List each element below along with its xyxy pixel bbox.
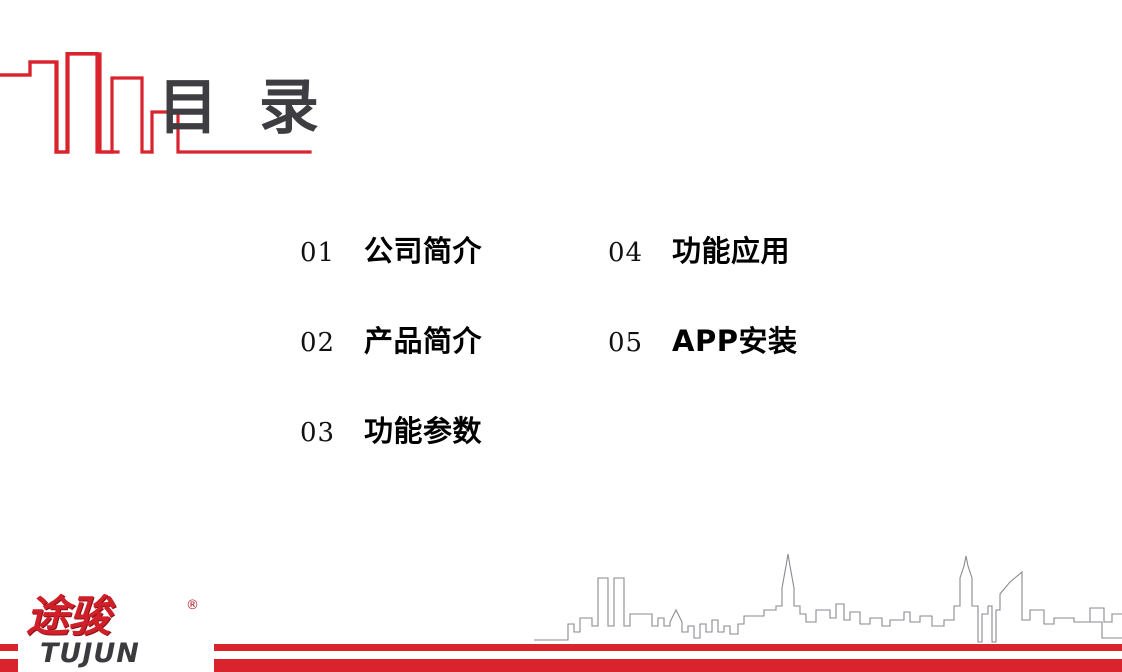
toc-item-label: APP安装 xyxy=(672,318,797,360)
toc-item-02[interactable]: 02 产品简介 xyxy=(300,318,482,408)
logo-english-text: TUJUN xyxy=(40,640,140,667)
toc-column-left: 01 公司简介 02 产品简介 03 功能参数 xyxy=(300,228,482,498)
toc-item-number: 01 xyxy=(300,238,364,268)
page-title: 目 录 xyxy=(158,78,329,138)
company-logo[interactable]: 途骏 ® TUJUN xyxy=(18,596,214,672)
toc-item-label: 公司简介 xyxy=(364,228,482,270)
toc-item-number: 03 xyxy=(300,418,364,448)
toc-item-number: 05 xyxy=(608,328,672,358)
toc-item-01[interactable]: 01 公司简介 xyxy=(300,228,482,318)
toc-item-04[interactable]: 04 功能应用 xyxy=(608,228,797,318)
footer-city-skyline-icon xyxy=(530,548,1122,648)
registered-mark-icon: ® xyxy=(186,598,199,613)
logo-chinese-text: 途骏 xyxy=(26,596,110,639)
toc-item-label: 功能应用 xyxy=(672,228,790,270)
slide-canvas: 目 录 01 公司简介 02 产品简介 03 功能参数 04 功能应用 05 xyxy=(0,0,1122,672)
toc-item-number: 04 xyxy=(608,238,672,268)
toc-column-right: 04 功能应用 05 APP安装 xyxy=(608,228,797,408)
toc-item-03[interactable]: 03 功能参数 xyxy=(300,408,482,498)
toc-item-number: 02 xyxy=(300,328,364,358)
toc-item-label: 产品简介 xyxy=(364,318,482,360)
toc-item-05[interactable]: 05 APP安装 xyxy=(608,318,797,408)
toc-item-label: 功能参数 xyxy=(364,408,482,450)
